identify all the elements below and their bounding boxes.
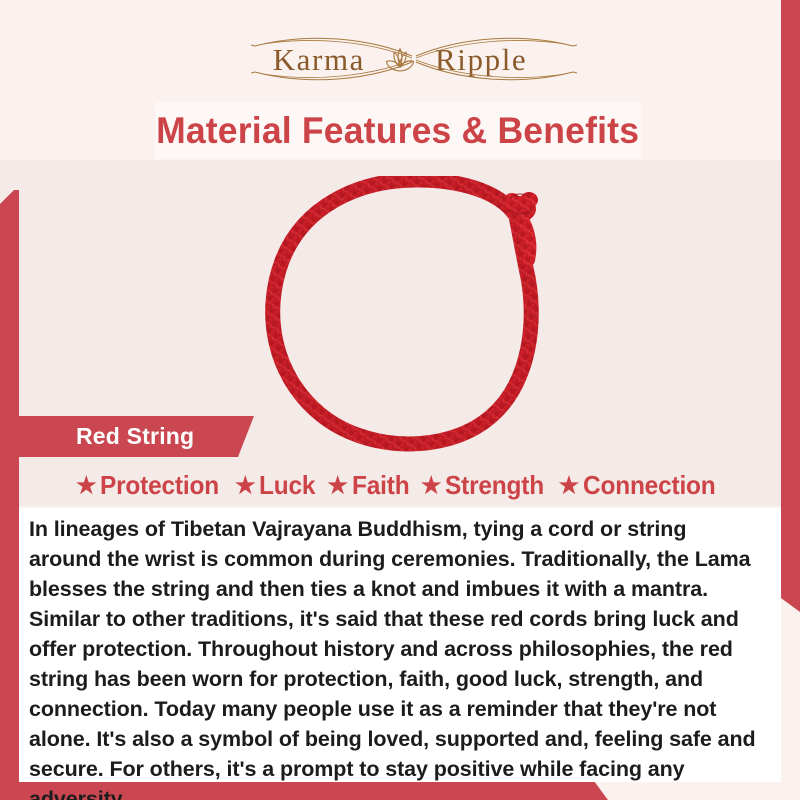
feature-label: Protection (100, 470, 219, 501)
feature-label: Faith (352, 470, 409, 501)
page-title: Material Features & Benefits (156, 110, 639, 152)
star-icon: ★ (421, 474, 441, 497)
star-icon: ★ (559, 474, 579, 497)
decorative-bar-left (0, 190, 19, 800)
description-panel: In lineages of Tibetan Vajrayana Buddhis… (19, 508, 781, 782)
lotus-icon (383, 42, 417, 76)
bracelet-illustration-icon (248, 176, 572, 464)
decorative-bar-right (781, 0, 800, 612)
feature-item-protection: ★ Protection (72, 470, 231, 501)
infographic-page: Karma Ripple Material Features & Benefit… (0, 0, 800, 800)
brand-logo: Karma Ripple (0, 28, 800, 90)
feature-label: Luck (259, 470, 315, 501)
feature-label: Connection (583, 470, 716, 501)
feature-label: Strength (445, 470, 544, 501)
feature-item-luck: ★ Luck (231, 470, 323, 501)
brand-word-left: Karma (259, 44, 379, 75)
product-image-red-string-bracelet (248, 176, 572, 464)
star-icon: ★ (76, 474, 96, 497)
page-title-band: Material Features & Benefits (155, 102, 641, 159)
feature-item-connection: ★ Connection (555, 470, 728, 501)
brand-logo-inner: Karma Ripple (259, 42, 542, 76)
product-label-text: Red String (76, 423, 194, 450)
description-paragraph: In lineages of Tibetan Vajrayana Buddhis… (29, 514, 763, 800)
features-list: ★ Protection ★ Luck ★ Faith ★ Strength ★… (19, 463, 781, 507)
feature-item-faith: ★ Faith (323, 470, 417, 501)
star-icon: ★ (235, 474, 255, 497)
brand-word-right: Ripple (421, 44, 541, 75)
feature-item-strength: ★ Strength (417, 470, 555, 501)
product-label-banner: Red String (19, 416, 254, 457)
star-icon: ★ (327, 474, 347, 497)
